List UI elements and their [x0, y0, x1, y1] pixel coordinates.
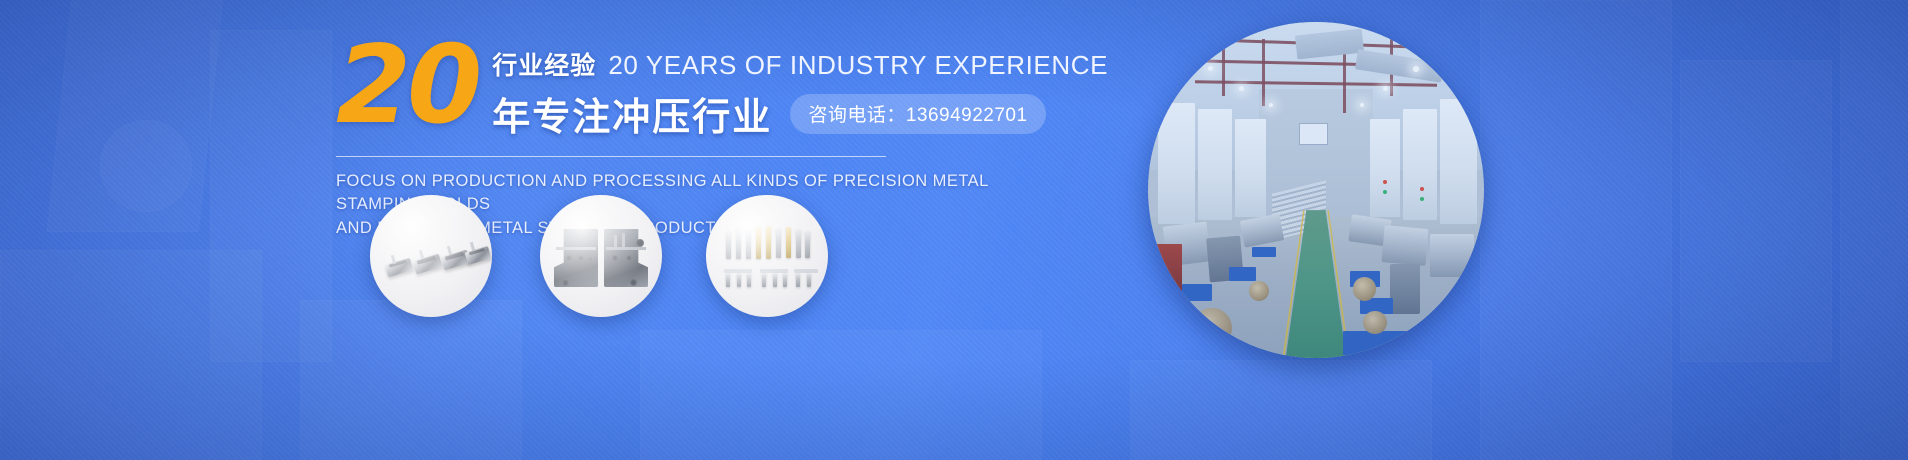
usb-connectors-stage	[370, 195, 492, 317]
company-banner: 20 行业经验 20 YEARS OF INDUSTRY EXPERIENCE …	[0, 0, 1908, 460]
metal-terminals-stage	[706, 195, 828, 317]
years-number: 20	[336, 40, 492, 133]
usb-connectors-photo	[370, 195, 492, 317]
metal-terminals-photo	[706, 195, 828, 317]
headline-en: 20 YEARS OF INDUSTRY EXPERIENCE	[608, 50, 1108, 81]
factory-workshop-photo	[1148, 22, 1484, 358]
headline-cn-small: 行业经验	[492, 46, 596, 82]
divider-line	[336, 156, 886, 157]
phone-badge[interactable]: 咨询电话：13694922701	[790, 94, 1045, 134]
stamping-mold-photo	[540, 195, 662, 317]
headline-text: 行业经验 20 YEARS OF INDUSTRY EXPERIENCE 年专注…	[492, 36, 1108, 141]
headline-line-top: 行业经验 20 YEARS OF INDUSTRY EXPERIENCE	[492, 46, 1108, 82]
headline-line-bottom: 年专注冲压行业 咨询电话：13694922701	[492, 86, 1108, 141]
headline-cn-big: 年专注冲压行业	[492, 86, 772, 141]
stamping-mold-stage	[540, 195, 662, 317]
headline-row: 20 行业经验 20 YEARS OF INDUSTRY EXPERIENCE …	[336, 36, 1096, 141]
